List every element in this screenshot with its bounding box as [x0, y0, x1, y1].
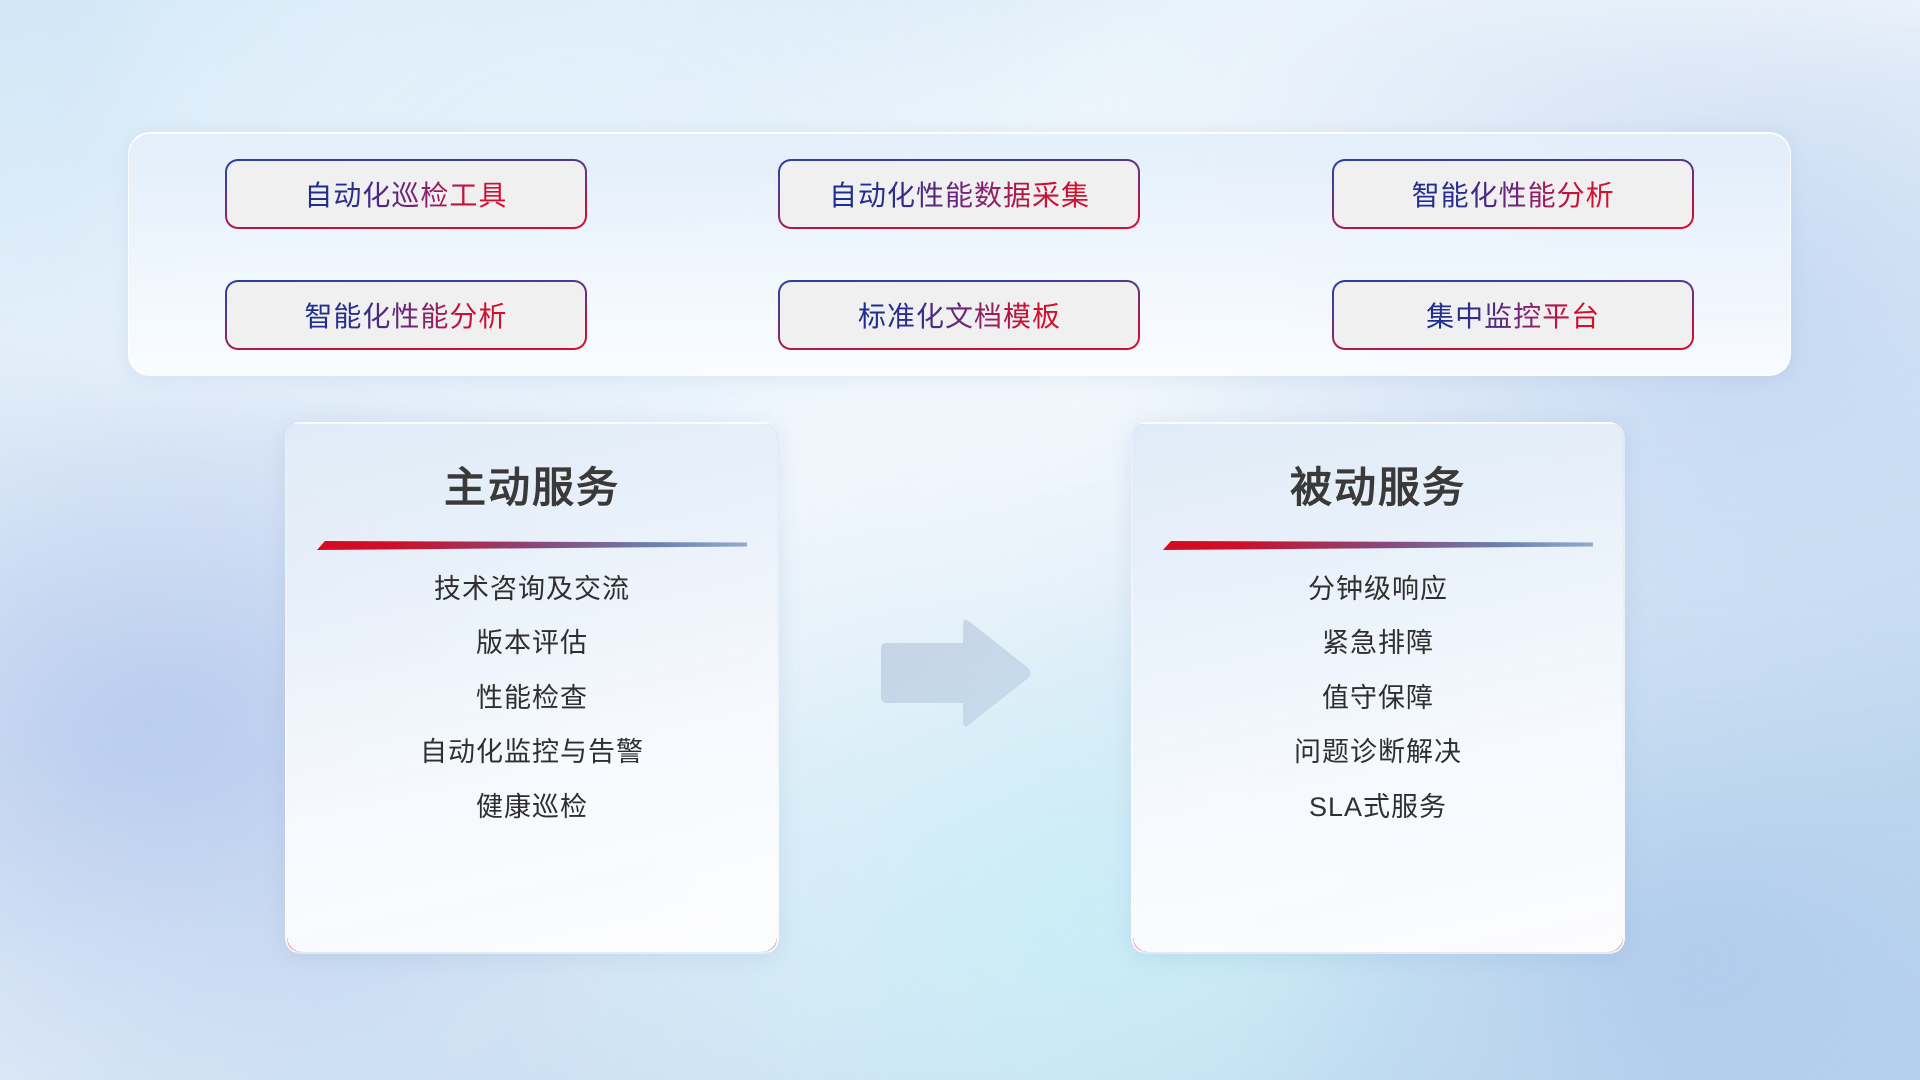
card-content: 主动服务 技术咨询及交流 版本评估 性能检查 自动化监控与告警 — [287, 424, 777, 952]
tool-pill-automated-perf-collection[interactable]: 自动化性能数据采集 — [780, 161, 1138, 227]
tool-pill-label: 标准化文档模板 — [858, 295, 1061, 335]
tool-pill-label: 智能化性能分析 — [1412, 174, 1615, 214]
list-item: 紧急排障 — [1322, 627, 1434, 659]
slide-canvas: 自动化巡检工具 自动化性能数据采集 智能化性能分析 智能化性能分析 标准化文档模… — [0, 0, 1920, 1080]
list-item: 值守保障 — [1322, 682, 1434, 714]
tool-pill-standard-doc-template[interactable]: 标准化文档模板 — [780, 282, 1138, 348]
tools-panel: 自动化巡检工具 自动化性能数据采集 智能化性能分析 智能化性能分析 标准化文档模… — [128, 132, 1791, 376]
list-item: 问题诊断解决 — [1294, 736, 1462, 768]
tool-pill-intelligent-perf-analysis[interactable]: 智能化性能分析 — [1334, 161, 1692, 227]
tools-row-1: 自动化巡检工具 自动化性能数据采集 智能化性能分析 — [129, 133, 1790, 254]
service-card-reactive[interactable]: 被动服务 分钟级响应 紧急排障 值守保障 问题诊断解决 — [1131, 422, 1625, 954]
list-item: 自动化监控与告警 — [420, 736, 644, 768]
service-card-proactive[interactable]: 主动服务 技术咨询及交流 版本评估 性能检查 自动化监控与告警 — [285, 422, 779, 954]
list-item: 性能检查 — [476, 682, 588, 714]
list-item: SLA式服务 — [1309, 791, 1447, 823]
tool-pill-label: 自动化巡检工具 — [304, 174, 507, 214]
tool-pill-label: 集中监控平台 — [1426, 295, 1600, 335]
card-title: 被动服务 — [1290, 454, 1466, 515]
list-item: 健康巡检 — [476, 791, 588, 823]
card-title: 主动服务 — [444, 454, 620, 515]
list-item: 技术咨询及交流 — [434, 573, 630, 605]
card-item-list: 技术咨询及交流 版本评估 性能检查 自动化监控与告警 健康巡检 — [287, 573, 777, 823]
card-item-list: 分钟级响应 紧急排障 值守保障 问题诊断解决 SLA式服务 — [1133, 573, 1623, 823]
title-underline-rule — [317, 539, 747, 551]
tool-pill-automated-inspection[interactable]: 自动化巡检工具 — [227, 161, 585, 227]
tool-pill-intelligent-perf-analysis-2[interactable]: 智能化性能分析 — [227, 282, 585, 348]
tool-pill-label: 自动化性能数据采集 — [829, 174, 1090, 214]
tools-row-2: 智能化性能分析 标准化文档模板 集中监控平台 — [129, 254, 1790, 375]
tool-pill-label: 智能化性能分析 — [304, 295, 507, 335]
list-item: 版本评估 — [476, 627, 588, 659]
title-underline-rule — [1163, 539, 1593, 551]
card-content: 被动服务 分钟级响应 紧急排障 值守保障 问题诊断解决 — [1133, 424, 1623, 952]
list-item: 分钟级响应 — [1308, 573, 1448, 605]
arrow-right-icon — [875, 613, 1035, 733]
tool-pill-central-monitoring-platform[interactable]: 集中监控平台 — [1334, 282, 1692, 348]
